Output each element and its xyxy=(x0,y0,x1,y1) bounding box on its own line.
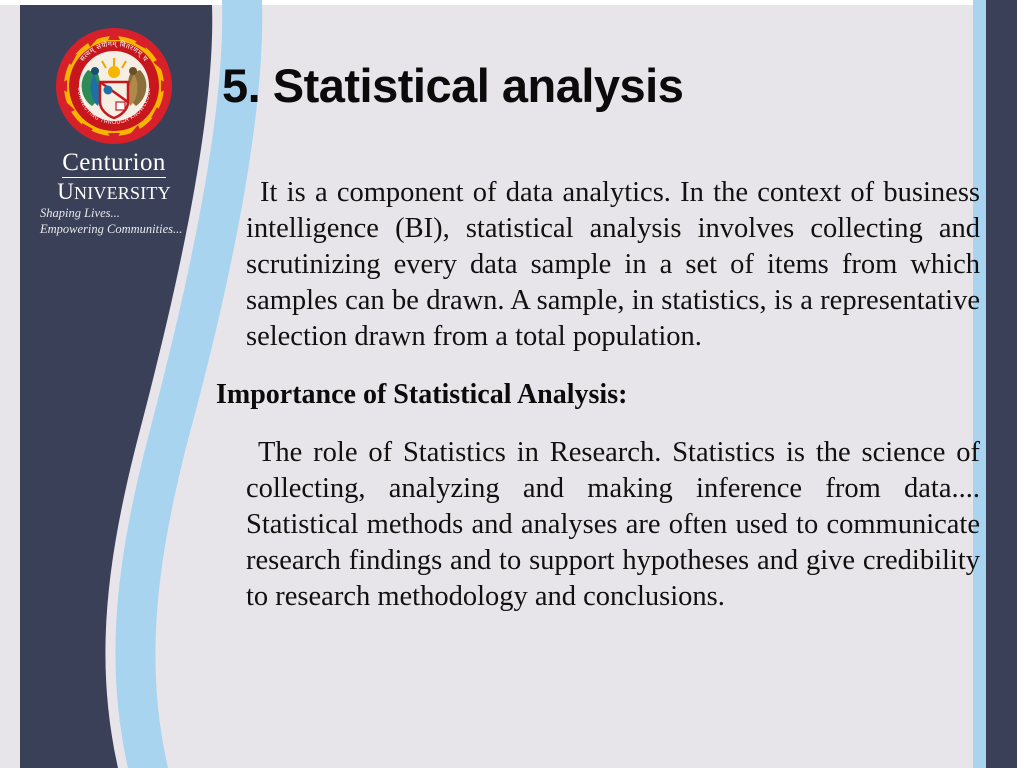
tagline-line-2: Empowering Communities... xyxy=(40,221,194,238)
section-heading: Importance of Statistical Analysis: xyxy=(216,377,980,413)
university-logo-block: सत्यम् संयोगम् वितरणम् च CONNECTING THRO… xyxy=(34,26,194,238)
university-name-line-2-rest: NIVERSITY xyxy=(74,183,171,203)
tagline-line-1: Shaping Lives... xyxy=(40,205,194,222)
slide-canvas: सत्यम् संयोगम् वितरणम् च CONNECTING THRO… xyxy=(0,0,1024,768)
university-name-line-2: UNIVERSITY xyxy=(34,179,194,204)
university-name-line-1: Centurion xyxy=(62,150,166,178)
university-emblem-icon: सत्यम् संयोगम् वितरणम् च CONNECTING THRO… xyxy=(54,26,174,146)
slide-body: It is a component of data analytics. In … xyxy=(216,175,980,615)
body-paragraph-1: It is a component of data analytics. In … xyxy=(246,175,980,355)
right-white-margin xyxy=(1017,0,1024,768)
right-navy-accent-bar xyxy=(986,0,1017,768)
slide-title: 5. Statistical analysis xyxy=(222,58,683,113)
body-paragraph-2: The role of Statistics in Research. Stat… xyxy=(246,435,980,615)
university-name-line-2-first: U xyxy=(57,179,74,204)
